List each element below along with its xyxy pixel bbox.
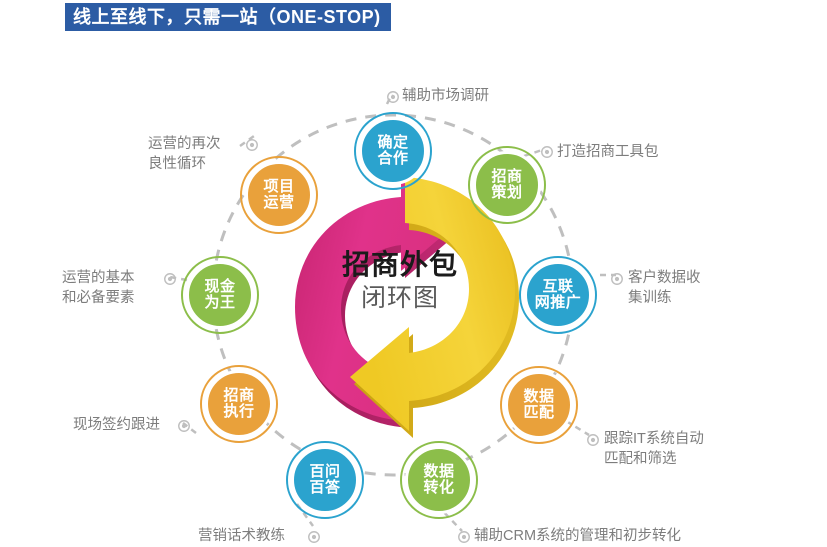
closed-loop-diagram: 招商外包 闭环图 确定合作招商策划互联网推广数据匹配数据转化百问百答招商执行现金…: [0, 34, 827, 547]
node-data-conversion[interactable]: 数据转化: [405, 446, 473, 514]
ann-toolkit: 打造招商工具包: [557, 143, 659, 163]
ann-virtuous-cycle: 运营的再次 良性循环: [148, 135, 221, 174]
ann-onsite-signing: 现场签约跟进: [73, 416, 160, 436]
node-label: 确定合作: [375, 135, 410, 167]
node-internet-promotion[interactable]: 互联网推广: [524, 261, 592, 329]
node-label: 百问百答: [307, 464, 342, 496]
annotation-pin-icon: [307, 530, 321, 544]
annotation-pin-icon: [586, 433, 600, 447]
node-q-and-a[interactable]: 百问百答: [291, 446, 359, 514]
page-title-banner: 线上至线下，只需一站（ONE-STOP): [65, 3, 391, 31]
diagram-canvas: 线上至线下，只需一站（ONE-STOP): [0, 0, 827, 547]
ann-crm-management: 辅助CRM系统的管理和初步转化: [474, 527, 681, 547]
annotation-pin-icon: [610, 272, 624, 286]
annotation-pin-icon: [457, 530, 471, 544]
node-confirm-cooperation[interactable]: 确定合作: [359, 117, 427, 185]
ann-operation-basics: 运营的基本 和必备要素: [62, 269, 135, 308]
ann-sales-coaching: 营销话术教练: [198, 527, 285, 547]
page-title: 线上至线下，只需一站（ONE-STOP): [73, 8, 381, 26]
node-label: 数据转化: [421, 464, 456, 496]
node-project-operation[interactable]: 项目运营: [245, 161, 313, 229]
ann-it-tracking: 跟踪IT系统自动 匹配和筛选: [604, 430, 704, 469]
annotation-pin-icon: [386, 90, 400, 104]
node-investment-planning[interactable]: 招商策划: [473, 151, 541, 219]
ann-market-research: 辅助市场调研: [402, 87, 489, 107]
node-investment-exec[interactable]: 招商执行: [205, 370, 273, 438]
annotation-pin-icon: [177, 419, 191, 433]
annotation-pin-icon: [245, 138, 259, 152]
node-label: 数据匹配: [521, 389, 556, 421]
node-label: 招商策划: [489, 169, 524, 201]
ann-customer-data: 客户数据收 集训练: [628, 269, 701, 308]
node-label: 现金为王: [202, 279, 237, 311]
node-label: 互联网推广: [533, 279, 584, 311]
node-data-matching[interactable]: 数据匹配: [505, 371, 573, 439]
annotation-pin-icon: [163, 272, 177, 286]
node-label: 招商执行: [221, 388, 256, 420]
annotation-pin-icon: [540, 145, 554, 159]
node-cash-is-king[interactable]: 现金为王: [186, 261, 254, 329]
node-label: 项目运营: [261, 179, 296, 211]
